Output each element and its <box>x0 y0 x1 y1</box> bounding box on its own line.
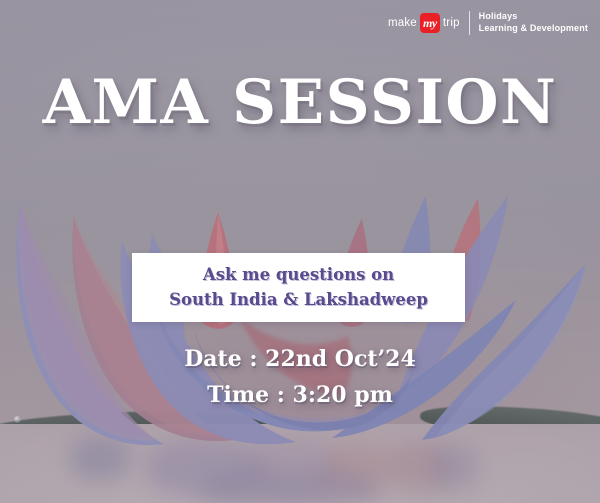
session-time: Time : 3:20 pm <box>0 378 600 414</box>
question-card-line-1: Ask me questions on <box>203 263 394 287</box>
logo-text-make: make <box>388 17 417 29</box>
logo-subtitle-line-1: Holidays <box>479 11 588 23</box>
logo-badge-text: my <box>423 17 437 29</box>
makemytrip-logo: make my trip Holidays Learning & Develop… <box>388 11 588 35</box>
session-date: Date : 22nd Oct’24 <box>0 342 600 378</box>
water-reflection <box>430 444 480 490</box>
logo-divider <box>469 11 470 35</box>
water-reflection <box>200 470 380 503</box>
question-card: Ask me questions on South India & Laksha… <box>132 253 465 322</box>
logo-badge-icon: my <box>420 13 440 33</box>
session-details: Date : 22nd Oct’24 Time : 3:20 pm <box>0 342 600 413</box>
logo-subtitle-line-2: Learning & Development <box>479 23 588 35</box>
question-card-line-2: South India & Lakshadweep <box>169 288 428 312</box>
logo-subtitle: Holidays Learning & Development <box>479 11 588 35</box>
page-title: AMA SESSION <box>0 72 600 133</box>
ama-session-poster: make my trip Holidays Learning & Develop… <box>0 0 600 503</box>
logo-mark: make my trip <box>388 13 460 33</box>
logo-text-trip: trip <box>443 17 460 29</box>
